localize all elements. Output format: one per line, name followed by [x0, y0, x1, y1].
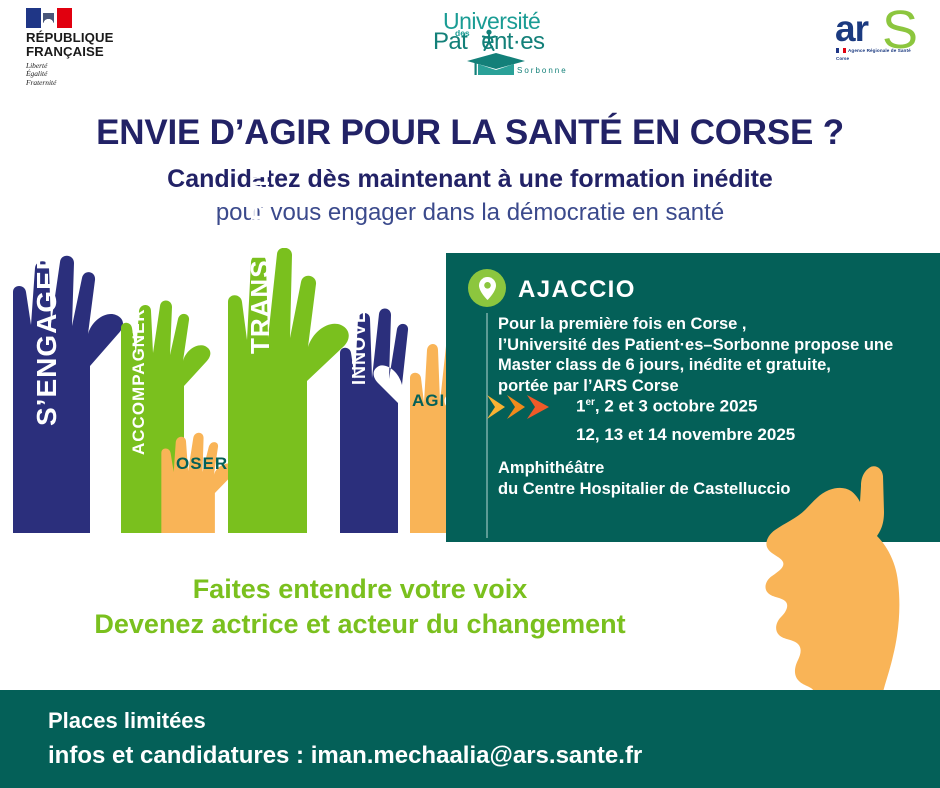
person-figure-icon: [481, 29, 497, 51]
rf-line2: FRANÇAISE: [26, 45, 113, 59]
des-word: des: [455, 28, 470, 38]
universite-des-patientes-logo: Université Patent·es des Sorbonne: [425, 6, 560, 84]
page-title: ENVIE D’AGIR POUR LA SANTÉ EN CORSE ?: [0, 113, 940, 153]
date1-rest: , 2 et 3 octobre 2025: [595, 397, 758, 416]
hand-sengager: [13, 256, 123, 533]
footer-contact-email[interactable]: infos et candidatures : iman.mechaalia@a…: [48, 742, 642, 770]
panel-divider: [486, 313, 488, 538]
triple-chevron-icon: [486, 393, 556, 421]
rf-line1: RÉPUBLIQUE: [26, 31, 113, 45]
footer-places-limitees: Places limitées: [48, 708, 206, 734]
slogan-line-1: Faites entendre votre voix: [0, 572, 720, 607]
subtitle-secondary: pour vous engager dans la démocratie en …: [0, 199, 940, 227]
ars-region-text: Corse: [836, 56, 849, 61]
panel-body-line3: Master class de 6 jours, inédite et grat…: [498, 355, 928, 376]
french-flag-icon: [26, 8, 72, 28]
panel-body-line1: Pour la première fois en Corse ,: [498, 314, 928, 335]
ars-subtitle: Agence Régionale de Santé: [836, 48, 911, 53]
ars-logo: ar S Agence Régionale de Santé Corse: [835, 8, 931, 70]
logo-bar: RÉPUBLIQUE FRANÇAISE Liberté Égalité Fra…: [0, 0, 940, 90]
date-line-2: 12, 13 et 14 novembre 2025: [576, 421, 795, 449]
date-line-1: 1er, 2 et 3 octobre 2025: [576, 389, 795, 421]
city-name: AJACCIO: [518, 276, 636, 304]
footer-bar: Places limitées infos et candidatures : …: [0, 690, 940, 788]
pin-glyph: [479, 277, 496, 300]
subtitle-primary: Candidatez dès maintenant à une formatio…: [0, 165, 940, 194]
republique-francaise-logo: RÉPUBLIQUE FRANÇAISE Liberté Égalité Fra…: [13, 8, 113, 87]
panel-body-text: Pour la première fois en Corse , l’Unive…: [498, 314, 928, 396]
slogan-line-2: Devenez actrice et acteur du changement: [0, 607, 720, 642]
republique-motto: Liberté Égalité Fraternité: [26, 62, 113, 87]
republique-francaise-name: RÉPUBLIQUE FRANÇAISE: [26, 31, 113, 58]
sorbonne-word: Sorbonne: [517, 66, 568, 75]
slogan: Faites entendre votre voix Devenez actri…: [0, 572, 720, 642]
motto-fraternite: Fraternité: [26, 79, 113, 87]
hands-svg: [0, 248, 470, 548]
date1-ordinal: er: [585, 397, 594, 408]
session-dates: 1er, 2 et 3 octobre 2025 12, 13 et 14 no…: [576, 389, 795, 449]
mini-flag-icon: [836, 48, 846, 53]
panel-body-line2: l’Université des Patient·es–Sorbonne pro…: [498, 335, 928, 356]
poster: RÉPUBLIQUE FRANÇAISE Liberté Égalité Fra…: [0, 0, 940, 788]
ars-ar-text: ar: [835, 10, 868, 47]
ars-subtitle-text: Agence Régionale de Santé: [848, 48, 911, 53]
map-marker-icon: [468, 269, 506, 307]
raised-hands-illustration: S’ENGAGER ACCOMPAGNER OSER TRANSFORMER I…: [0, 248, 470, 548]
